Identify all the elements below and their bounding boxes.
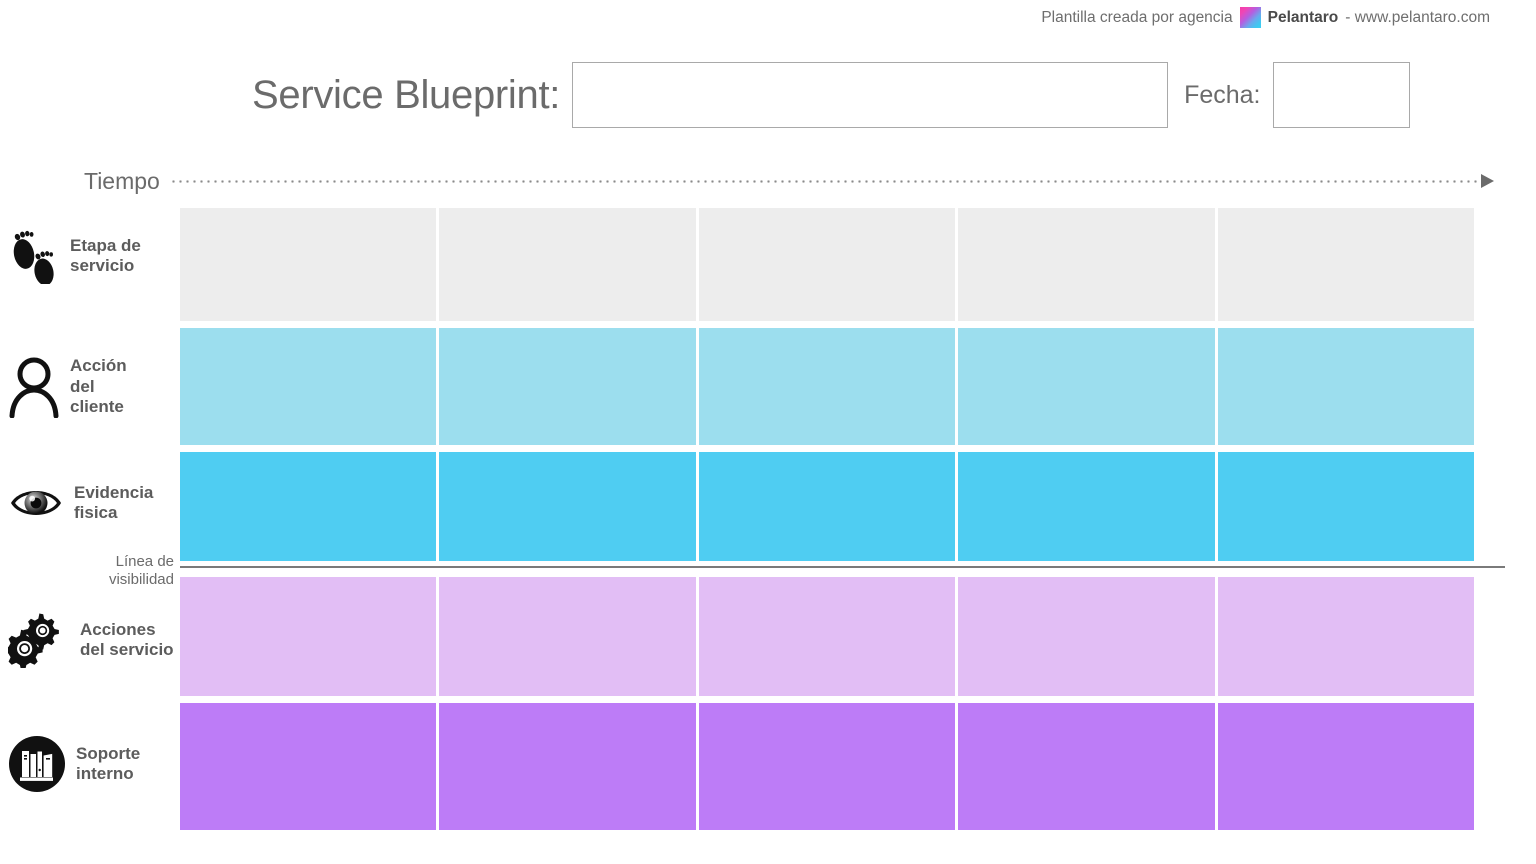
blueprint-cell[interactable] [1218,208,1474,321]
pelantaro-gradient-logo-icon [1240,7,1261,28]
date-input[interactable] [1273,62,1410,128]
blueprint-row-customer-action [180,328,1474,445]
blueprint-cell[interactable] [180,208,436,321]
blueprint-row-stage [180,208,1474,321]
gears-icon [8,612,70,668]
blueprint-cell[interactable] [699,452,955,561]
row-label-internal-support: Soporte interno [8,735,180,793]
blueprint-cell[interactable] [1218,703,1474,830]
blueprint-grid [180,208,1474,830]
blueprint-cell[interactable] [180,452,436,561]
blueprint-cell[interactable] [1218,452,1474,561]
blueprint-cell[interactable] [699,703,955,830]
row-label-service-actions-text: Acciones del servicio [80,620,174,661]
person-icon [8,356,60,418]
row-label-service-actions: Acciones del servicio [8,612,180,668]
page-title: Service Blueprint: [252,75,560,115]
blueprint-cell[interactable] [958,452,1214,561]
row-label-internal-support-text: Soporte interno [76,744,140,785]
blueprint-cell[interactable] [180,328,436,445]
blueprint-cell[interactable] [180,703,436,830]
blueprint-cell[interactable] [439,577,695,696]
row-label-customer-action: Acción del cliente [8,356,180,418]
blueprint-cell[interactable] [958,703,1214,830]
brand-name: Pelantaro [1268,9,1339,27]
template-credit: Plantilla creada por agencia Pelantaro -… [1041,7,1490,28]
blueprint-cell[interactable] [699,208,955,321]
blueprint-cell[interactable] [958,328,1214,445]
blueprint-row-physical-evidence [180,452,1474,561]
blueprint-cell[interactable] [439,452,695,561]
blueprint-row-internal-support [180,703,1474,830]
row-label-customer-action-text: Acción del cliente [70,356,127,417]
visibility-line-caption: Línea de visibilidad [66,553,174,590]
blueprint-title-input[interactable] [572,62,1168,128]
blueprint-cell[interactable] [958,577,1214,696]
blueprint-cell[interactable] [439,208,695,321]
header-row: Service Blueprint: Fecha: [252,62,1410,128]
visibility-line [180,566,1505,568]
books-circle-icon [8,735,66,793]
row-label-physical-evidence: Evidencia fisica [8,482,180,524]
blueprint-cell[interactable] [699,577,955,696]
row-label-stage: Etapa de servicio [8,228,180,284]
arrow-right-icon [1481,174,1494,188]
blueprint-cell[interactable] [958,208,1214,321]
credit-prefix-text: Plantilla creada por agencia [1041,9,1232,27]
date-label: Fecha: [1184,81,1260,110]
blueprint-cell[interactable] [1218,577,1474,696]
blueprint-cell[interactable] [439,328,695,445]
blueprint-cell[interactable] [439,703,695,830]
blueprint-cell[interactable] [180,577,436,696]
row-label-physical-evidence-text: Evidencia fisica [74,483,153,524]
blueprint-row-service-actions [180,577,1474,696]
timeline-axis: Tiempo [84,167,1494,195]
blueprint-cell[interactable] [1218,328,1474,445]
eye-icon [8,482,64,524]
timeline-label: Tiempo [84,168,160,195]
credit-website-link[interactable]: - www.pelantaro.com [1345,9,1490,27]
footprints-icon [8,228,60,284]
timeline-dotted-line [170,180,1480,183]
blueprint-cell[interactable] [699,328,955,445]
row-label-stage-text: Etapa de servicio [70,236,141,277]
